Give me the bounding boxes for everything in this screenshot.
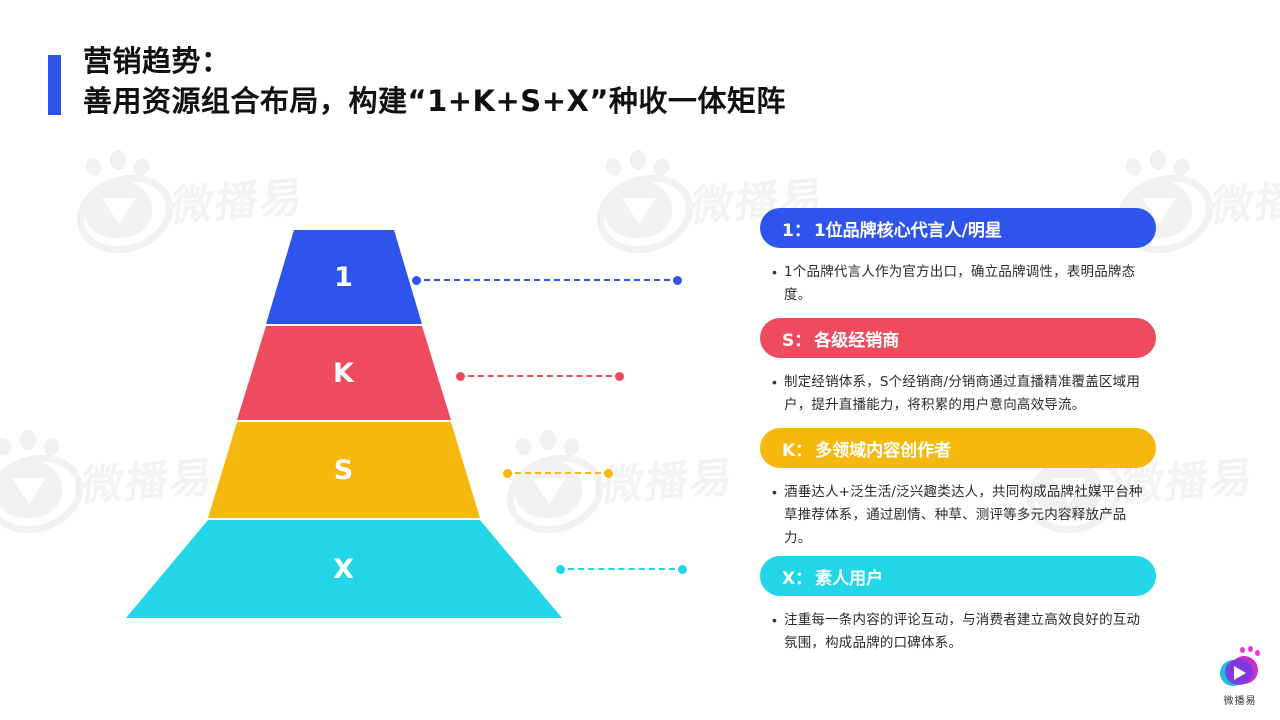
connector-dot-start	[456, 372, 465, 381]
page-title: 营销趋势： 善用资源组合布局，构建“1+K+S+X”种收一体矩阵	[48, 42, 786, 121]
detail-pill-k-key: K：	[782, 436, 812, 461]
title-text-group: 营销趋势： 善用资源组合布局，构建“1+K+S+X”种收一体矩阵	[83, 42, 786, 121]
connector-dash	[568, 568, 675, 570]
detail-bullet-1: • 1个品牌代言人作为官方出口，确立品牌调性，表明品牌态度。	[760, 261, 1156, 307]
detail-pill-s-key: S：	[782, 326, 811, 351]
watermark-logo-icon	[0, 430, 76, 526]
connector-line-1	[412, 275, 682, 285]
pyramid-tier-1-label: 1	[334, 262, 354, 293]
pyramid-diagram: 1 K S X	[126, 230, 562, 620]
pyramid-tier-x-label: X	[333, 554, 355, 585]
detail-pill-k[interactable]: K： 多领域内容创作者	[760, 428, 1156, 468]
detail-bullet-1-text: 1个品牌代言人作为官方出口，确立品牌调性，表明品牌态度。	[784, 261, 1152, 307]
detail-pill-s[interactable]: S： 各级经销商	[760, 318, 1156, 358]
detail-pill-1-heading: 1位品牌核心代言人/明星	[814, 216, 1002, 241]
brand-logo-icon	[1218, 646, 1262, 690]
detail-bullet-k: • 酒垂达人+泛生活/泛兴趣类达人，共同构成品牌社媒平台种草推荐体系，通过剧情、…	[760, 481, 1156, 550]
detail-pill-x[interactable]: X： 素人用户	[760, 556, 1156, 596]
connector-line-k	[456, 371, 624, 381]
connector-line-s	[503, 468, 613, 478]
connector-dash	[515, 472, 601, 474]
pyramid-tier-k-label: K	[333, 358, 355, 389]
connector-dot-end	[678, 565, 687, 574]
title-line-1: 营销趋势：	[83, 42, 786, 82]
detail-bullet-s: • 制定经销体系，S个经销商/分销商通过直播精准覆盖区域用户，提升直播能力，将积…	[760, 371, 1156, 417]
connector-dash	[424, 279, 670, 281]
detail-bullet-x: • 注重每一条内容的评论互动，与消费者建立高效良好的互动氛围，构成品牌的口碑体系…	[760, 609, 1156, 655]
detail-bullet-x-text: 注重每一条内容的评论互动，与消费者建立高效良好的互动氛围，构成品牌的口碑体系。	[784, 609, 1152, 655]
connector-dot-end	[673, 276, 682, 285]
detail-pill-1-key: 1：	[782, 216, 811, 241]
watermark-text: 微播易	[1208, 163, 1280, 233]
bullet-marker-icon: •	[772, 371, 784, 417]
watermark-logo-icon	[590, 150, 686, 246]
detail-pill-k-heading: 多领域内容创作者	[815, 436, 951, 461]
bullet-marker-icon: •	[772, 261, 784, 307]
detail-block-1: 1： 1位品牌核心代言人/明星 • 1个品牌代言人作为官方出口，确立品牌调性，表…	[760, 208, 1156, 307]
detail-block-s: S： 各级经销商 • 制定经销体系，S个经销商/分销商通过直播精准覆盖区域用户，…	[760, 318, 1156, 417]
detail-bullet-k-text: 酒垂达人+泛生活/泛兴趣类达人，共同构成品牌社媒平台种草推荐体系，通过剧情、种草…	[784, 481, 1152, 550]
connector-dot-start	[412, 276, 421, 285]
connector-dot-end	[615, 372, 624, 381]
pyramid-tier-x[interactable]: X	[126, 520, 562, 618]
watermark-text: 微播易	[168, 163, 308, 233]
watermark-text: 微播易	[598, 443, 738, 513]
title-line-2: 善用资源组合布局，构建“1+K+S+X”种收一体矩阵	[83, 82, 786, 122]
slide-root: 微播易 微播易 微播易 微播易	[0, 0, 1280, 720]
pyramid-tier-s-label: S	[334, 455, 354, 486]
bullet-marker-icon: •	[772, 609, 784, 655]
detail-pill-x-heading: 素人用户	[815, 564, 883, 589]
connector-dot-start	[503, 469, 512, 478]
detail-bullet-s-text: 制定经销体系，S个经销商/分销商通过直播精准覆盖区域用户，提升直播能力，将积累的…	[784, 371, 1152, 417]
detail-block-k: K： 多领域内容创作者 • 酒垂达人+泛生活/泛兴趣类达人，共同构成品牌社媒平台…	[760, 428, 1156, 550]
detail-block-x: X： 素人用户 • 注重每一条内容的评论互动，与消费者建立高效良好的互动氛围，构…	[760, 556, 1156, 655]
detail-pill-x-key: X：	[782, 564, 812, 589]
connector-dot-start	[556, 565, 565, 574]
pyramid-tier-s[interactable]: S	[126, 422, 562, 518]
brand-logo-text: 微播易	[1212, 692, 1268, 707]
title-accent-bar	[48, 55, 61, 115]
detail-pill-1[interactable]: 1： 1位品牌核心代言人/明星	[760, 208, 1156, 248]
connector-line-x	[556, 564, 687, 574]
detail-pill-s-heading: 各级经销商	[814, 326, 899, 351]
connector-dash	[468, 375, 612, 377]
connector-dot-end	[604, 469, 613, 478]
bullet-marker-icon: •	[772, 481, 784, 550]
brand-logo: 微播易	[1212, 646, 1268, 707]
